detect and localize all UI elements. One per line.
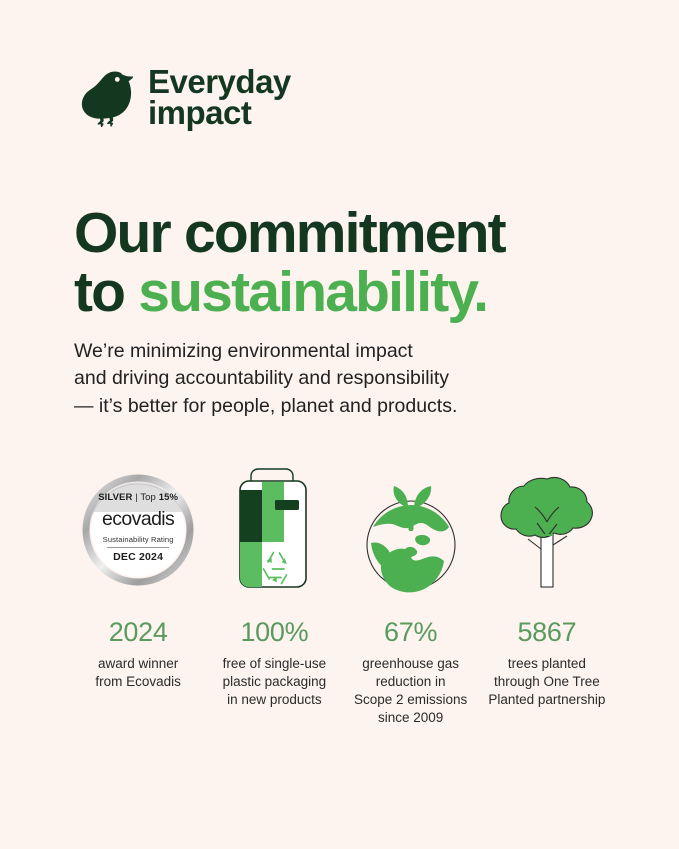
caption-line: Scope 2 emissions — [354, 692, 467, 707]
stat-icon-packaging — [232, 460, 316, 600]
stat-value-packaging: 100% — [240, 618, 308, 648]
ecovadis-badge-text: SILVER | Top 15% ecovadis Sustainability… — [80, 472, 196, 588]
tree-icon — [497, 465, 597, 596]
stat-caption-emissions: greenhouse gas reduction in Scope 2 emis… — [354, 655, 467, 727]
badge-brand: ecovadis — [102, 508, 174, 531]
badge-rank-prefix: Top — [140, 492, 158, 503]
stat-value-trees: 5867 — [517, 618, 576, 648]
caption-line: reduction in — [376, 674, 446, 689]
stat-value-ecovadis: 2024 — [109, 618, 168, 648]
logo-line-1: Everyday — [148, 66, 291, 97]
page-title: Our commitment to sustainability. — [74, 204, 634, 323]
stats-row: SILVER | Top 15% ecovadis Sustainability… — [70, 460, 615, 727]
intro-line-3: — it’s better for people, planet and pro… — [74, 393, 594, 421]
logo-wordmark: Everyday impact — [148, 66, 291, 128]
headline-line-2-prefix: to — [74, 260, 138, 324]
caption-line: award winner — [98, 656, 178, 671]
stat-caption-ecovadis: award winner from Ecovadis — [95, 655, 181, 691]
intro-paragraph: We’re minimizing environmental impact an… — [74, 338, 594, 421]
caption-line: Planted partnership — [488, 692, 605, 707]
caption-line: in new products — [227, 692, 322, 707]
brand-logo: Everyday impact — [76, 66, 291, 128]
headline-accent: sustainability. — [138, 260, 487, 324]
stat-icon-tree — [497, 460, 597, 600]
stat-item-trees: 5867 trees planted through One Tree Plan… — [479, 460, 615, 709]
bird-icon — [76, 66, 134, 128]
stat-item-ecovadis: SILVER | Top 15% ecovadis Sustainability… — [70, 460, 206, 691]
caption-line: trees planted — [508, 656, 586, 671]
stat-item-packaging: 100% free of single-use plastic packagin… — [206, 460, 342, 709]
headline-line-1: Our commitment — [74, 201, 505, 265]
stat-icon-ecovadis: SILVER | Top 15% ecovadis Sustainability… — [80, 460, 196, 600]
stat-value-emissions: 67% — [384, 618, 437, 648]
logo-line-2: impact — [148, 97, 291, 128]
badge-rank-value: 15% — [159, 492, 178, 503]
stat-icon-globe — [359, 460, 463, 600]
intro-line-2: and driving accountability and responsib… — [74, 365, 594, 393]
badge-tier: SILVER — [98, 492, 132, 503]
caption-line: since 2009 — [378, 710, 443, 725]
badge-date: DEC 2024 — [113, 551, 163, 563]
caption-line: through One Tree — [494, 674, 600, 689]
stat-caption-trees: trees planted through One Tree Planted p… — [488, 655, 605, 709]
caption-line: free of single-use — [223, 656, 327, 671]
badge-divider — [107, 547, 169, 548]
caption-line: greenhouse gas — [362, 656, 459, 671]
intro-line-1: We’re minimizing environmental impact — [74, 338, 594, 366]
globe-sprout-icon — [359, 461, 463, 600]
caption-line: plastic packaging — [223, 674, 327, 689]
stat-caption-packaging: free of single-use plastic packaging in … — [223, 655, 327, 709]
ecovadis-badge-icon: SILVER | Top 15% ecovadis Sustainability… — [80, 472, 196, 588]
recyclable-packaging-icon — [232, 465, 316, 596]
stat-item-emissions: 67% greenhouse gas reduction in Scope 2 … — [343, 460, 479, 727]
caption-line: from Ecovadis — [95, 674, 181, 689]
sustainability-infographic: Everyday impact Our commitment to sustai… — [0, 0, 679, 849]
badge-rating-label: Sustainability Rating — [103, 535, 174, 544]
badge-tier-line: SILVER | Top 15% — [98, 492, 178, 503]
